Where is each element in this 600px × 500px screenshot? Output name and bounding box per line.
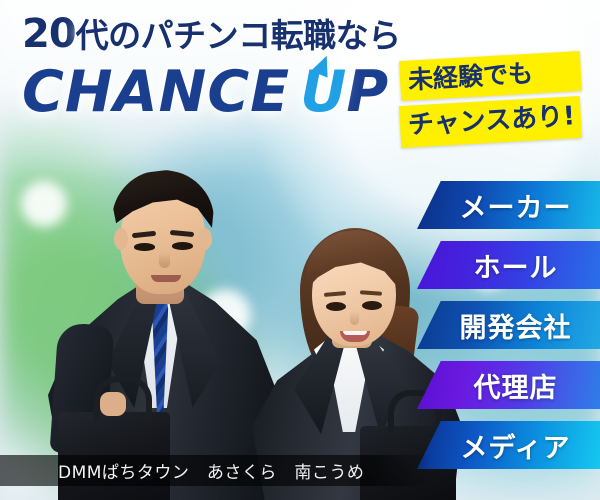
category-label: 代理店 — [460, 366, 558, 405]
brand-letter-p: P — [346, 59, 388, 125]
category-button-developer[interactable]: 開発会社 — [417, 301, 600, 349]
female-nose — [350, 311, 359, 325]
female-teeth — [343, 331, 367, 335]
person-male-photo — [48, 148, 280, 500]
male-eye-right — [172, 242, 193, 250]
headline-number: 20 — [22, 11, 76, 57]
male-ear-left — [114, 228, 128, 250]
headline-block: 20代のパチンコ転職なら CHANCEUP — [22, 14, 422, 125]
male-hand — [100, 392, 126, 416]
headline-japanese: 20代のパチンコ転職なら — [22, 14, 422, 56]
category-button-hall[interactable]: ホール — [417, 241, 600, 289]
credit-caption-bar: DMMぱちタウン あさくら 南こうめ — [0, 455, 432, 486]
brand-logotype: CHANCEUP — [22, 59, 422, 125]
category-label: メーカー — [446, 186, 572, 225]
advertisement-banner[interactable]: 20代のパチンコ転職なら CHANCEUP 未経験でも チャンスあり! メーカー… — [0, 0, 600, 500]
brand-up-group: U — [300, 59, 346, 125]
category-button-agency[interactable]: 代理店 — [417, 361, 600, 409]
promo-badge: 未経験でも チャンスあり! — [400, 56, 581, 143]
category-button-maker[interactable]: メーカー — [417, 181, 600, 229]
promo-badge-line-2: チャンスあり! — [399, 96, 582, 148]
headline-japanese-text: 代のパチンコ転職なら — [76, 16, 401, 55]
category-label: メディア — [446, 426, 570, 465]
male-mouth — [151, 275, 181, 282]
category-label: 開発会社 — [446, 306, 572, 345]
male-eye-left — [134, 243, 155, 251]
male-ear-right — [198, 228, 212, 250]
male-nose — [159, 252, 170, 268]
category-button-media[interactable]: メディア — [417, 421, 600, 469]
female-eye-right — [362, 301, 382, 310]
credit-caption-text: DMMぱちタウン あさくら 南こうめ — [0, 458, 364, 483]
brand-word-chance: CHANCE — [22, 59, 290, 125]
female-eye-left — [326, 302, 346, 311]
category-label: ホール — [460, 246, 558, 285]
promo-badge-line-1: 未経験でも — [399, 51, 582, 101]
